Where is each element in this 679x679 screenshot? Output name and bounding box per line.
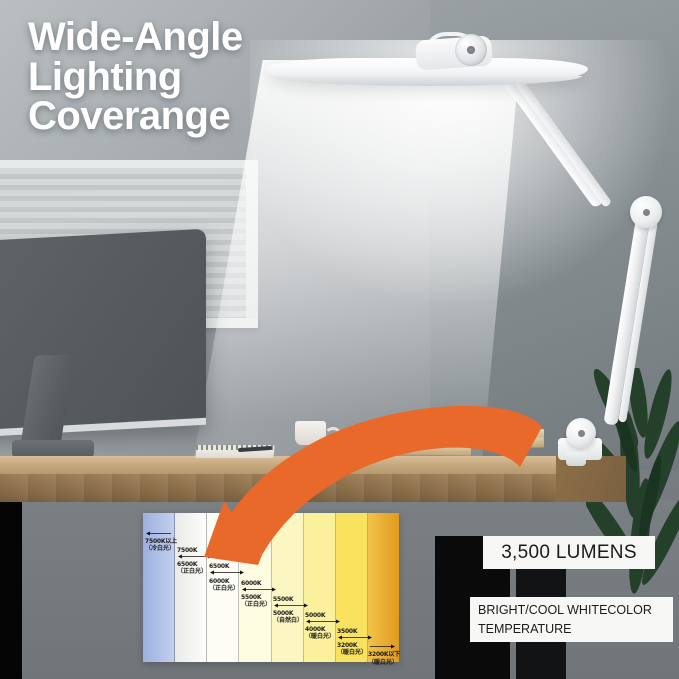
page-title: Wide-Angle Lighting Coverange [28,18,328,137]
temperature-line-2: TEMPERATURE [478,620,673,639]
cct-range-arrow-4 [241,587,277,592]
window-frame-right [246,160,258,325]
product-marketing-image: Wide-Angle Lighting Coverange 7500K以上（冷白… [0,0,679,679]
lamp-joint-lower-screw [578,430,585,437]
cct-range-arrow-1 [145,531,173,536]
cct-range-arrow-8 [368,644,396,649]
desk-leg-left-shadow [0,500,22,679]
headline-line-1: Wide-Angle [28,18,328,58]
cct-range-arrow-6 [305,619,341,624]
cct-label-1: 7500K以上（冷白光） [145,531,177,552]
lumens-badge: 3,500 LUMENS [483,536,655,569]
cct-label-5: 5500K5000K（自然白） [273,596,309,624]
lamp-head-knob-screw [467,46,475,54]
cct-label-6: 5000K4000K（暖白光） [305,612,341,640]
window-frame-top [0,160,256,168]
lamp-joint-upper-screw [643,209,650,216]
headline-line-3: Coverange [28,97,328,137]
cct-range-arrow-7 [337,635,373,640]
cct-range-arrow-5 [273,603,309,608]
headline-line-2: Lighting [28,58,328,98]
color-temperature-badge: BRIGHT/COOL WHITECOLOR TEMPERATURE [470,597,673,642]
temperature-line-1: BRIGHT/COOL WHITECOLOR [478,601,673,620]
lamp-clamp-lower [566,452,586,466]
cct-label-8: 3200K以下（暖白光） [368,644,400,665]
